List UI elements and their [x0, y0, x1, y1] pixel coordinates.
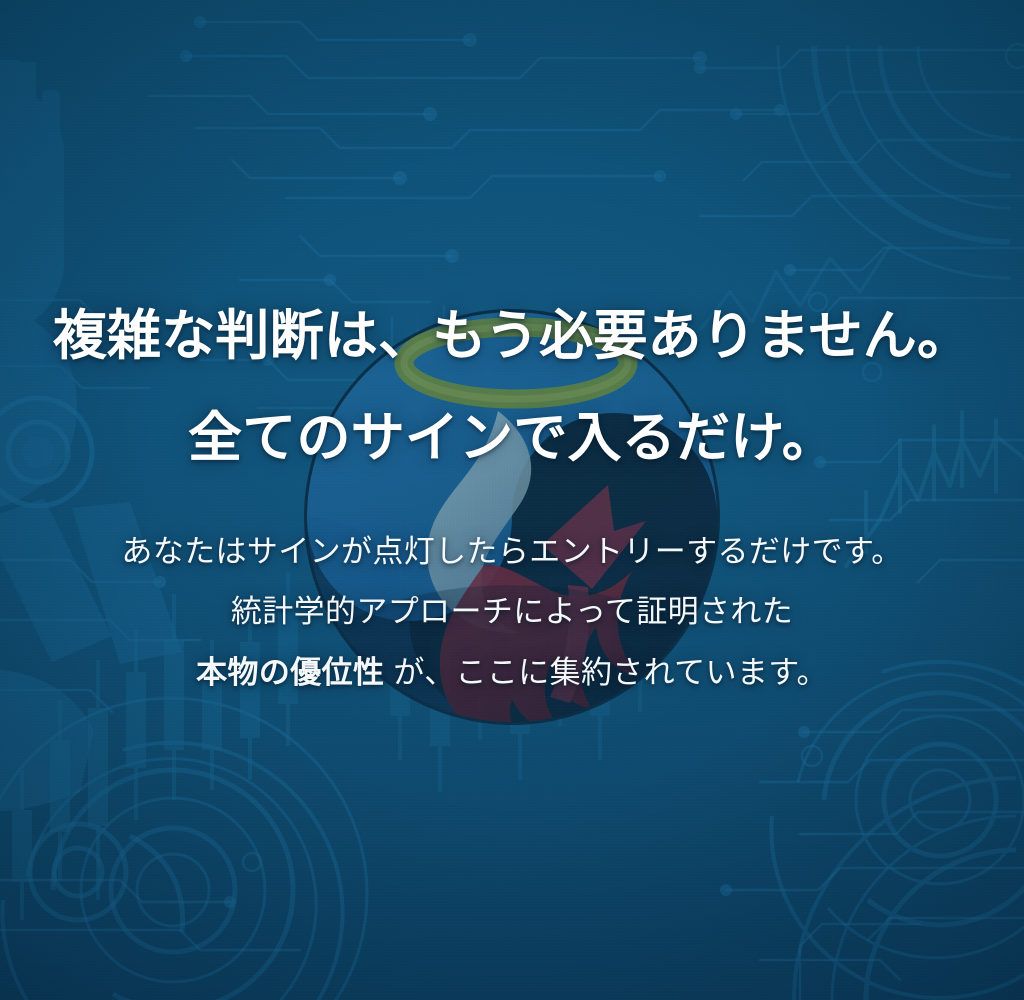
hero-copy-block: 複雑な判断は、もう必要ありません。 全てのサインで入るだけ。 あなたはサインが点… [0, 0, 1024, 1000]
headline-line-1: 複雑な判断は、もう必要ありません。 [53, 297, 971, 375]
subtitle-line-2: 統計学的アプローチによって証明された [231, 582, 793, 642]
headline-line-2: 全てのサインで入るだけ。 [188, 399, 836, 477]
hero-section: 複雑な判断は、もう必要ありません。 全てのサインで入るだけ。 あなたはサインが点… [0, 0, 1024, 1000]
subtitle-line-3: 本物の優位性 が、ここに集約されています。 [196, 643, 828, 703]
subtitle-line-1: あなたはサインが点灯したらエントリーするだけです。 [121, 522, 902, 582]
subtitle-line-3-emphasis: 本物の優位性 [196, 655, 384, 690]
subtitle-line-3-rest: が、ここに集約されています。 [384, 655, 828, 690]
